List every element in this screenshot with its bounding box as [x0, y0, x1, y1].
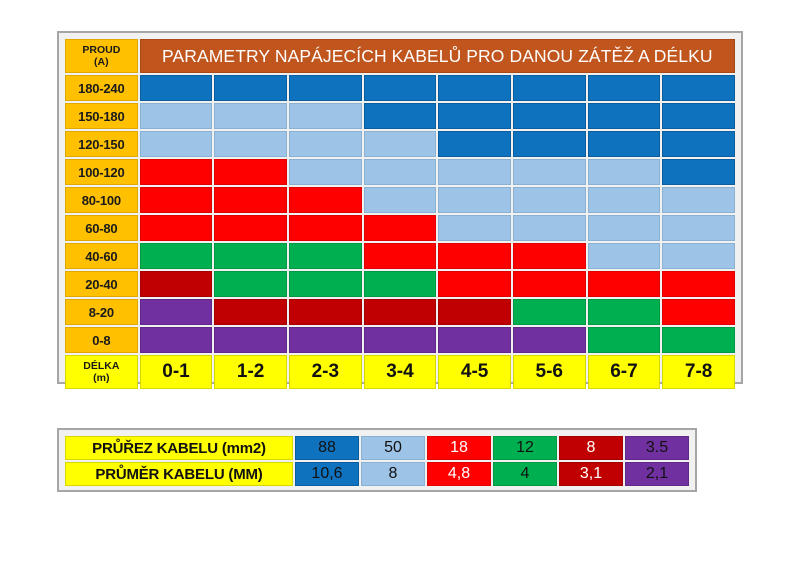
grid-cell	[662, 327, 735, 353]
grid-cell	[513, 159, 586, 185]
grid-cell	[513, 299, 586, 325]
grid-cell	[289, 187, 362, 213]
main-grid: PROUD (A) PARAMETRY NAPÁJECÍCH KABELŮ PR…	[63, 37, 737, 391]
legend-value: 12	[493, 436, 557, 460]
row-label-current: 20-40	[65, 271, 138, 297]
grid-cell	[214, 299, 287, 325]
grid-row: 100-120	[65, 159, 735, 185]
grid-cell	[140, 187, 213, 213]
row-label-current: 8-20	[65, 299, 138, 325]
grid-cell	[289, 75, 362, 101]
grid-cell	[214, 327, 287, 353]
grid-cell	[214, 131, 287, 157]
row-label-current: 40-60	[65, 243, 138, 269]
grid-cell	[438, 215, 511, 241]
grid-cell	[214, 215, 287, 241]
grid-cell	[588, 75, 661, 101]
grid-cell	[588, 215, 661, 241]
grid-cell	[140, 103, 213, 129]
grid-row: 20-40	[65, 271, 735, 297]
grid-cell	[140, 271, 213, 297]
row-label-current: 180-240	[65, 75, 138, 101]
grid-cell	[364, 215, 437, 241]
grid-cell	[438, 159, 511, 185]
legend-value: 2,1	[625, 462, 689, 486]
row-label-current: 120-150	[65, 131, 138, 157]
grid-cell	[438, 271, 511, 297]
grid-cell	[513, 187, 586, 213]
legend-value: 3.5	[625, 436, 689, 460]
current-header-line2: (A)	[66, 56, 137, 68]
grid-row: 60-80	[65, 215, 735, 241]
grid-row: 120-150	[65, 131, 735, 157]
grid-cell	[438, 243, 511, 269]
grid-cell	[513, 131, 586, 157]
row-label-current: 150-180	[65, 103, 138, 129]
length-header-line1: DÉLKA	[66, 360, 137, 372]
column-label-length: 3-4	[364, 355, 437, 389]
grid-cell	[513, 75, 586, 101]
grid-cell	[662, 131, 735, 157]
current-header-line1: PROUD	[66, 44, 137, 56]
column-label-length: 4-5	[438, 355, 511, 389]
grid-row: 40-60	[65, 243, 735, 269]
legend-value: 50	[361, 436, 425, 460]
column-label-length: 6-7	[588, 355, 661, 389]
axis-row: DÉLKA(m)0-11-22-33-44-55-66-77-8	[65, 355, 735, 389]
grid-cell	[662, 271, 735, 297]
grid-cell	[214, 271, 287, 297]
grid-cell	[214, 103, 287, 129]
legend-value: 10,6	[295, 462, 359, 486]
title-row: PROUD (A) PARAMETRY NAPÁJECÍCH KABELŮ PR…	[65, 39, 735, 73]
grid-cell	[214, 187, 287, 213]
grid-cell	[140, 131, 213, 157]
grid-cell	[364, 187, 437, 213]
column-label-length: 5-6	[513, 355, 586, 389]
row-label-current: 80-100	[65, 187, 138, 213]
grid-cell	[588, 299, 661, 325]
grid-cell	[588, 187, 661, 213]
grid-cell	[513, 327, 586, 353]
legend-row: PRŮMĚR KABELU (MM)10,684,843,12,1	[65, 462, 689, 486]
grid-cell	[364, 299, 437, 325]
grid-cell	[588, 131, 661, 157]
grid-cell	[140, 75, 213, 101]
grid-cell	[662, 215, 735, 241]
current-header-cell: PROUD (A)	[65, 39, 138, 73]
grid-cell	[214, 159, 287, 185]
grid-cell	[438, 75, 511, 101]
grid-cell	[289, 159, 362, 185]
grid-cell	[140, 215, 213, 241]
legend-value: 4,8	[427, 462, 491, 486]
grid-cell	[364, 75, 437, 101]
grid-cell	[214, 243, 287, 269]
row-label-current: 60-80	[65, 215, 138, 241]
grid-cell	[513, 215, 586, 241]
grid-cell	[140, 243, 213, 269]
grid-row: 80-100	[65, 187, 735, 213]
legend-row-label: PRŮMĚR KABELU (MM)	[65, 462, 293, 486]
grid-cell	[588, 103, 661, 129]
grid-cell	[364, 327, 437, 353]
grid-cell	[662, 75, 735, 101]
legend-row-label: PRŮŘEZ KABELU (mm2)	[65, 436, 293, 460]
legend-value: 3,1	[559, 462, 623, 486]
grid-cell	[364, 243, 437, 269]
grid-cell	[662, 187, 735, 213]
column-label-length: 2-3	[289, 355, 362, 389]
grid-cell	[289, 103, 362, 129]
grid-cell	[588, 327, 661, 353]
grid-cell	[289, 271, 362, 297]
grid-cell	[438, 103, 511, 129]
legend-value: 8	[559, 436, 623, 460]
grid-row: 180-240	[65, 75, 735, 101]
row-label-current: 0-8	[65, 327, 138, 353]
cable-parameters-table: PROUD (A) PARAMETRY NAPÁJECÍCH KABELŮ PR…	[57, 31, 743, 384]
length-header-cell: DÉLKA(m)	[65, 355, 138, 389]
length-header-line2: (m)	[66, 372, 137, 384]
grid-cell	[214, 75, 287, 101]
grid-cell	[438, 131, 511, 157]
grid-cell	[588, 271, 661, 297]
grid-cell	[513, 271, 586, 297]
table-title: PARAMETRY NAPÁJECÍCH KABELŮ PRO DANOU ZÁ…	[140, 39, 735, 73]
grid-cell	[662, 299, 735, 325]
grid-cell	[364, 159, 437, 185]
grid-cell	[364, 131, 437, 157]
grid-cell	[662, 103, 735, 129]
legend-value: 18	[427, 436, 491, 460]
grid-cell	[289, 215, 362, 241]
grid-cell	[662, 159, 735, 185]
legend-value: 4	[493, 462, 557, 486]
legend-value: 88	[295, 436, 359, 460]
legend-grid: PRŮŘEZ KABELU (mm2)8850181283.5PRŮMĚR KA…	[63, 434, 691, 488]
grid-cell	[289, 131, 362, 157]
grid-row: 0-8	[65, 327, 735, 353]
legend-row: PRŮŘEZ KABELU (mm2)8850181283.5	[65, 436, 689, 460]
column-label-length: 0-1	[140, 355, 213, 389]
grid-cell	[513, 103, 586, 129]
grid-row: 8-20	[65, 299, 735, 325]
row-label-current: 100-120	[65, 159, 138, 185]
grid-cell	[140, 299, 213, 325]
column-label-length: 7-8	[662, 355, 735, 389]
cable-legend-table: PRŮŘEZ KABELU (mm2)8850181283.5PRŮMĚR KA…	[57, 428, 697, 492]
grid-cell	[588, 159, 661, 185]
grid-cell	[438, 299, 511, 325]
grid-cell	[438, 327, 511, 353]
grid-cell	[438, 187, 511, 213]
grid-cell	[662, 243, 735, 269]
grid-cell	[289, 327, 362, 353]
grid-row: 150-180	[65, 103, 735, 129]
grid-cell	[513, 243, 586, 269]
grid-cell	[289, 243, 362, 269]
legend-value: 8	[361, 462, 425, 486]
grid-cell	[289, 299, 362, 325]
grid-cell	[140, 159, 213, 185]
grid-cell	[588, 243, 661, 269]
grid-cell	[364, 271, 437, 297]
grid-cell	[364, 103, 437, 129]
column-label-length: 1-2	[214, 355, 287, 389]
grid-cell	[140, 327, 213, 353]
